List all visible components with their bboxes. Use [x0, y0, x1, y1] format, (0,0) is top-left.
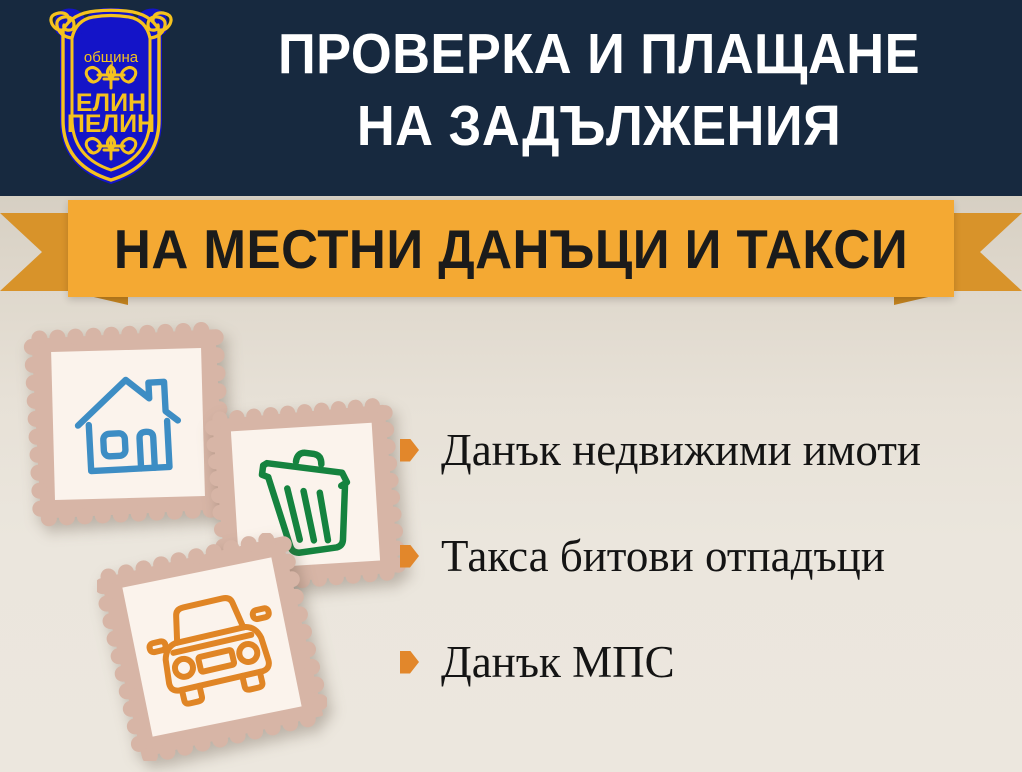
arrow-bullet-icon	[400, 651, 419, 674]
header-bar: община ЕЛИН ПЕЛИН ПРОВЕРКА И ПЛАЩАНЕ НА …	[0, 0, 1022, 196]
arrow-bullet-icon	[400, 545, 419, 568]
coat-of-arms-elin-pelin: община ЕЛИН ПЕЛИН	[36, 8, 186, 190]
list-item: Данък недвижими имоти	[400, 424, 1010, 476]
list-item-label: Данък МПС	[441, 637, 675, 687]
poster-canvas: община ЕЛИН ПЕЛИН ПРОВЕРКА И ПЛАЩАНЕ НА …	[0, 0, 1022, 772]
list-item-label: Данък недвижими имоти	[441, 425, 921, 475]
crest-line-top: община	[84, 49, 139, 66]
tax-type-list: Данък недвижими имоти Такса битови отпад…	[400, 424, 1010, 688]
list-item: Такса битови отпадъци	[400, 530, 1010, 582]
ribbon-front-panel: НА МЕСТНИ ДАНЪЦИ И ТАКСИ	[68, 200, 954, 297]
stamp-card-car	[97, 533, 327, 761]
crest-line-bottom: ПЕЛИН	[67, 110, 155, 138]
list-item: Данък МПС	[400, 636, 1010, 688]
list-item-label: Такса битови отпадъци	[441, 531, 885, 581]
page-title: ПРОВЕРКА И ПЛАЩАНЕ НА ЗАДЪЛЖЕНИЯ	[219, 18, 979, 162]
ribbon-subtitle: НА МЕСТНИ ДАНЪЦИ И ТАКСИ	[99, 200, 923, 297]
ribbon-banner: НА МЕСТНИ ДАНЪЦИ И ТАКСИ	[0, 196, 1022, 308]
arrow-bullet-icon	[400, 439, 419, 462]
